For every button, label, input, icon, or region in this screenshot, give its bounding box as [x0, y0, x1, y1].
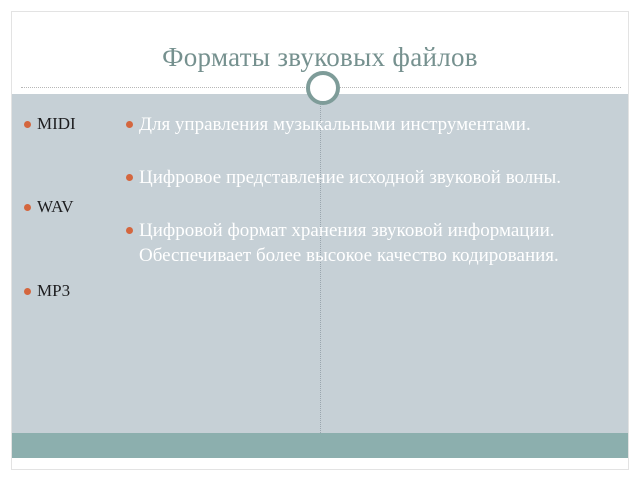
list-item: MIDI	[24, 113, 120, 135]
bullet-dot-icon	[126, 121, 133, 128]
two-column-layout: MIDI WAV MP3 Для управления	[12, 94, 628, 445]
ring-circle-icon	[306, 71, 340, 105]
format-description-label: Цифровой формат хранения звуковой информ…	[139, 218, 602, 268]
list-item: MP3	[24, 280, 120, 302]
format-description-label: Цифровое представление исходной звуковой…	[139, 165, 602, 190]
page-title: Форматы звуковых файлов	[162, 30, 478, 71]
slide-canvas: Форматы звуковых файлов MIDI WAV	[11, 11, 629, 470]
bullet-dot-icon	[24, 288, 31, 295]
list-item: Цифровое представление исходной звуковой…	[126, 165, 602, 190]
content-panel: MIDI WAV MP3 Для управления	[12, 94, 628, 445]
format-name-label: MP3	[37, 280, 120, 302]
bullet-dot-icon	[24, 121, 31, 128]
list-item: WAV	[24, 196, 120, 218]
bullet-dot-icon	[126, 174, 133, 181]
bullet-dot-icon	[126, 227, 133, 234]
format-descriptions-column: Для управления музыкальными инструментам…	[120, 94, 628, 445]
list-item: Цифровой формат хранения звуковой информ…	[126, 218, 602, 268]
format-name-label: MIDI	[37, 113, 120, 135]
format-names-column: MIDI WAV MP3	[12, 94, 120, 445]
slide-root: Форматы звуковых файлов MIDI WAV	[0, 0, 640, 480]
format-name-label: WAV	[37, 196, 120, 218]
bullet-dot-icon	[24, 204, 31, 211]
footer-accent-bar	[12, 433, 628, 458]
list-item: Для управления музыкальными инструментам…	[126, 112, 602, 137]
format-description-label: Для управления музыкальными инструментам…	[139, 112, 602, 137]
